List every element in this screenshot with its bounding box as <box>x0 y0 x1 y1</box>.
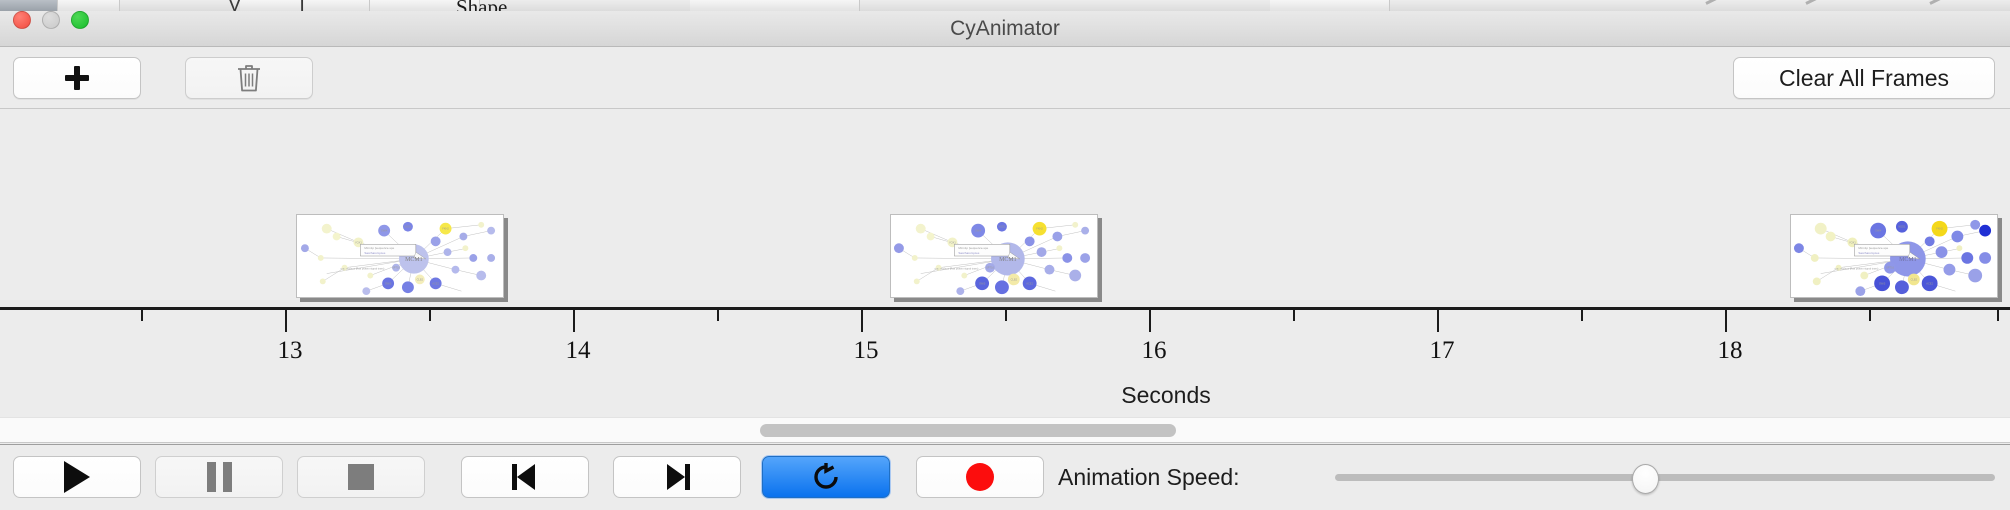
network-thumbnail-image: YOX1SWI4 FKH2NDD1 ACE2SWI5 CLB2SPT16 Mcm… <box>1791 215 1997 297</box>
axis-tick-label: 14 <box>566 337 591 365</box>
pause-icon <box>207 462 232 492</box>
svg-text:FKH2: FKH2 <box>1036 227 1043 231</box>
delete-frame-button[interactable] <box>185 57 313 99</box>
axis-tick-label: 15 <box>854 337 879 365</box>
slider-track <box>1335 474 1995 481</box>
frame-thumbnail[interactable]: YOX1SWI4 FKH2NDD1 ACE2SWI5 CLB2SPT16 Mcm… <box>1790 214 1998 298</box>
axis-tick-major <box>285 310 287 332</box>
svg-text:SWI4: SWI4 <box>1875 229 1882 233</box>
play-button[interactable] <box>13 456 141 498</box>
svg-text:NDD1: NDD1 <box>998 225 1006 229</box>
axis-tick-label: 18 <box>1718 337 1743 365</box>
background-glyph: V <box>228 0 241 11</box>
svg-text:SWI5: SWI5 <box>385 281 392 285</box>
background-segment <box>690 0 860 11</box>
svg-text:Mcm1p [sequence-spe: Mcm1p [sequence-spe <box>364 246 394 250</box>
axis-tick-label: 13 <box>278 337 303 365</box>
svg-text:FKH2: FKH2 <box>442 227 449 231</box>
svg-text:SWI5: SWI5 <box>979 281 986 285</box>
axis-tick-label: 17 <box>1430 337 1455 365</box>
svg-text:ACE2: ACE2 <box>1926 281 1933 285</box>
svg-text:ACE2: ACE2 <box>432 281 439 285</box>
background-glyph: T <box>296 0 308 11</box>
axis-tick-minor <box>1997 310 1999 321</box>
clear-all-frames-button[interactable]: Clear All Frames <box>1733 57 1995 99</box>
background-segment <box>0 0 58 11</box>
axis-title-label: Seconds <box>1121 382 1211 409</box>
svg-text:YOX1: YOX1 <box>949 240 956 244</box>
axis-tick-minor <box>1293 310 1295 321</box>
axis-title: Seconds <box>0 382 2010 409</box>
network-thumbnail-image: YOX1SWI4 FKH2NDD1 ACE2SWI5 CLB2SPT16 Mcm… <box>891 215 1097 297</box>
background-window-sliver: V T Shape <box>0 0 2010 11</box>
svg-text:nuc: nucleus (Ras protein sign: nuc: nucleus (Ras protein signal trans) <box>341 267 385 271</box>
svg-text:SPT16: SPT16 <box>392 266 400 270</box>
axis-tick-minor <box>141 310 143 321</box>
svg-text:NDD1: NDD1 <box>404 225 412 229</box>
axis-tick-major <box>861 310 863 332</box>
background-label-shape: Shape <box>456 0 507 11</box>
svg-text:CLB2: CLB2 <box>417 277 424 281</box>
hub-node-label: MCM1 <box>405 257 422 263</box>
previous-frame-button[interactable] <box>461 456 589 498</box>
page-title: CyAnimator <box>0 11 2010 47</box>
stop-icon <box>348 464 374 490</box>
svg-text:nuc: nucleus (Ras protein sign: nuc: nucleus (Ras protein signal trans) <box>935 267 979 271</box>
svg-text:SWI5: SWI5 <box>1879 281 1886 285</box>
axis-tick-label: 16 <box>1142 337 1167 365</box>
title-bar: CyAnimator <box>0 11 2010 47</box>
maximize-light-icon[interactable] <box>71 11 89 29</box>
svg-text:Saccharomyces: Saccharomyces <box>1858 251 1880 255</box>
svg-text:ACE2: ACE2 <box>1026 281 1033 285</box>
svg-text:FKH2: FKH2 <box>1936 227 1943 231</box>
slider-thumb[interactable] <box>1632 464 1659 494</box>
traffic-lights <box>13 11 89 29</box>
play-icon <box>64 461 90 493</box>
skip-previous-icon <box>510 462 540 492</box>
axis-tick-minor <box>429 310 431 321</box>
background-segment <box>58 0 120 11</box>
axis-tick-major <box>1725 310 1727 332</box>
svg-text:SWI4: SWI4 <box>381 229 388 233</box>
clear-all-frames-label: Clear All Frames <box>1779 65 1949 92</box>
add-frame-button[interactable] <box>13 57 141 99</box>
svg-text:NDD1: NDD1 <box>1898 225 1906 229</box>
plus-icon <box>63 64 91 92</box>
loop-button[interactable] <box>762 456 890 498</box>
svg-text:CLB2: CLB2 <box>1011 277 1018 281</box>
svg-text:Mcm1p [sequence-spe: Mcm1p [sequence-spe <box>958 246 988 250</box>
axis-tick-minor <box>1581 310 1583 321</box>
background-segment <box>1270 0 1390 11</box>
frame-thumbnail[interactable]: YOX1SWI4 FKH2NDD1 ACE2SWI5 CLB2SPT16 Mcm… <box>890 214 1098 298</box>
record-button[interactable] <box>916 456 1044 498</box>
stop-button[interactable] <box>297 456 425 498</box>
network-thumbnail-image: YOX1SWI4 FKH2NDD1 ACE2SWI5 CLB2SPT16 Mcm… <box>297 215 503 297</box>
svg-text:Mcm1p [sequence-spe: Mcm1p [sequence-spe <box>1858 246 1888 250</box>
axis-tick-minor <box>717 310 719 321</box>
cyanimator-window: V T Shape CyAnimator Clear All Frames <box>0 0 2010 510</box>
timeline-scrollbar[interactable] <box>0 417 2010 443</box>
svg-text:SWI4: SWI4 <box>975 229 982 233</box>
svg-text:Saccharomyces: Saccharomyces <box>958 251 980 255</box>
next-frame-button[interactable] <box>613 456 741 498</box>
axis-tick-major <box>1437 310 1439 332</box>
scrollbar-thumb[interactable] <box>760 424 1176 437</box>
hub-node-label: MCM1 <box>999 257 1016 263</box>
playback-control-bar: Animation Speed: <box>0 444 2010 510</box>
record-icon <box>966 463 994 491</box>
axis-tick-minor <box>1869 310 1871 321</box>
trash-icon <box>236 63 262 93</box>
svg-text:CLB2: CLB2 <box>1911 277 1918 281</box>
close-light-icon[interactable] <box>13 11 31 29</box>
axis-tick-minor <box>1005 310 1007 321</box>
skip-next-icon <box>662 462 692 492</box>
svg-text:YOX1: YOX1 <box>1849 240 1856 244</box>
axis-tick-major <box>573 310 575 332</box>
timeline-panel[interactable]: YOX1SWI4 FKH2NDD1 ACE2SWI5 CLB2SPT16 Mcm… <box>0 109 2010 416</box>
animation-speed-label: Animation Speed: <box>1058 456 1240 498</box>
hub-node-label: MCM1 <box>1899 257 1916 263</box>
axis-tick-major <box>1149 310 1151 332</box>
svg-text:nuc: nucleus (Ras protein sign: nuc: nucleus (Ras protein signal trans) <box>1835 267 1879 271</box>
svg-text:Saccharomyces: Saccharomyces <box>364 251 386 255</box>
pause-button[interactable] <box>155 456 283 498</box>
svg-text:YOX1: YOX1 <box>355 240 362 244</box>
svg-text:SPT16: SPT16 <box>986 266 994 270</box>
loop-refresh-icon <box>811 462 841 492</box>
animation-speed-slider[interactable] <box>1335 456 1995 498</box>
svg-text:SPT16: SPT16 <box>1886 266 1894 270</box>
minimize-light-icon[interactable] <box>42 11 60 29</box>
frame-thumbnail[interactable]: YOX1SWI4 FKH2NDD1 ACE2SWI5 CLB2SPT16 Mcm… <box>296 214 504 298</box>
